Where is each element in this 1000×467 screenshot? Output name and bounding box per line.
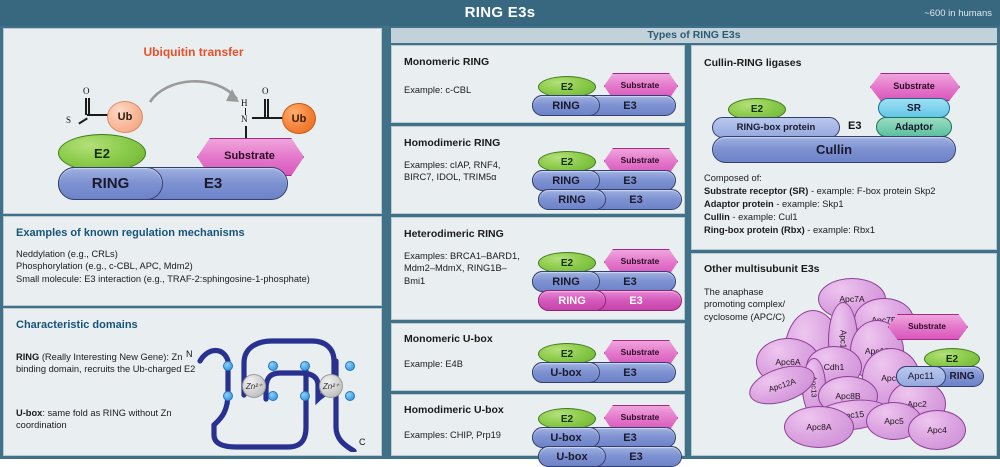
ubox-domain: U-box [538,446,606,467]
crl-component-desc: - example: F-box protein Skp2 [808,186,935,196]
hydrogen-atom-label: H [241,98,248,108]
apc-caption: The anaphase promoting complex/ cyclosom… [704,286,796,323]
bond-c-ub [87,114,109,116]
type-title: Heterodimeric RING [404,228,504,240]
ring-term: RING [16,352,39,362]
n-terminus-label: N [186,349,193,359]
type-title: Monomeric RING [404,56,489,68]
apc-panel: Other multisubunit E3s The anaphase prom… [691,253,997,456]
oxygen-atom-label-acceptor: O [262,86,269,96]
crl-component: Adaptor protein - example: Skp1 [704,198,844,210]
regulation-title: Examples of known regulation mechanisms [16,227,381,239]
right-column: Cullin-RING ligases Substrate E2 SR RING… [691,28,997,456]
type-panel-monomeric-ubox: Monomeric U-box Example: E4B E2 Substrat… [391,323,685,391]
apc-subunit: Apc8A [784,406,854,448]
ubox-definition: U-box: same fold as RING without Zn coor… [16,407,196,432]
domains-panel: Characteristic domains RING (Really Inte… [3,308,382,456]
cysteine-dot [300,361,310,371]
type-examples: Examples: cIAP, RNF4, BIRC7, IDOL, TRIM5… [404,159,530,184]
e3-label: E3 [848,120,861,132]
crl-component: Ring-box protein (Rbx) - example: Rbx1 [704,224,875,236]
regulation-item: Neddylation (e.g., CRLs) [16,248,381,260]
substrate-shape: Substrate [888,314,966,338]
poster-root: RING E3s ~600 in humans Types of RING E3… [0,0,1000,459]
regulation-panel: Examples of known regulation mechanisms … [3,216,382,306]
bond-c2-o-b [267,99,269,117]
substrate-shape: Substrate [604,148,676,172]
bond-c-o-a [85,98,87,115]
substrate-shape: Substrate [604,73,676,97]
regulation-item: Small molecule: E3 interaction (e.g., TR… [16,273,381,285]
crl-component-desc: - example: Cul1 [730,212,798,222]
cysteine-dot [345,361,355,371]
regulation-item: Phosphorylation (e.g., c-CBL, APC, Mdm2) [16,260,381,272]
human-count-label: ~600 in humans [924,0,992,27]
ring-fold-diagram-icon [184,327,384,452]
left-column: Ubiquitin transfer S O Ub H N O [3,28,382,456]
bond-n-c [252,117,266,119]
type-examples: Examples: CHIP, Prp19 [404,429,534,441]
type-examples: Examples: BRCA1–BARD1, Mdm2–MdmX, RING1B… [404,250,524,287]
ubox-domain: U-box [532,362,600,383]
type-title: Homodimeric RING [404,137,500,149]
ub-donor: Ub [107,101,143,133]
type-panel-monomeric-ring: Monomeric RING Example: c-CBL E2 Substra… [391,45,685,123]
substrate-shape: Substrate [604,405,676,429]
ring-definition: RING (Really Interesting New Gene): Zn b… [16,351,196,376]
types-column: Monomeric RING Example: c-CBL E2 Substra… [391,28,685,456]
bond-c-o-b [88,98,90,115]
ring-description: (Really Interesting New Gene): Zn bindin… [16,352,195,374]
ring-domain: RING [58,167,163,200]
type-panel-heterodimeric-ring: Heterodimeric RING Examples: BRCA1–BARD1… [391,217,685,320]
substrate-label: Substrate [604,73,676,97]
cysteine-dot [345,391,355,401]
ring-domain-partner: RING [538,290,606,311]
ubiquitin-transfer-panel: Ubiquitin transfer S O Ub H N O [3,28,382,214]
cysteine-dot [268,361,278,371]
c-terminus-label: C [359,437,366,447]
substrate-label: Substrate [604,405,676,429]
ring-domain: RING [532,95,600,116]
zinc-ion-2: Zn²⁺ [319,374,343,398]
crl-composed-label: Composed of: [704,172,762,184]
crl-component: Cullin - example: Cul1 [704,211,798,223]
crl-component-name: Ring-box protein (Rbx) [704,225,805,235]
cysteine-dot [300,391,310,401]
cysteine-dot [223,361,233,371]
page-header: RING E3s ~600 in humans [0,0,1000,26]
crl-component: Substrate receptor (SR) - example: F-box… [704,185,935,197]
type-panel-homodimeric-ring: Homodimeric RING Examples: cIAP, RNF4, B… [391,126,685,214]
adaptor-subunit: Adaptor [876,117,952,137]
substrate-shape: Substrate [870,73,958,99]
substrate-shape: Substrate [604,340,676,364]
cullin-bar: Cullin [712,136,956,163]
ubox-term: U-box [16,408,42,418]
crl-component-name: Cullin [704,212,730,222]
substrate-label: Substrate [870,73,958,99]
substrate-label: Substrate [888,314,966,338]
crl-title: Cullin-RING ligases [704,57,801,69]
apc-title: Other multisubunit E3s [704,263,820,275]
regulation-list: Neddylation (e.g., CRLs) Phosphorylation… [16,248,381,285]
ring-domain: RING [538,189,606,210]
apc-subunit: Apc4 [908,410,966,450]
ub-acceptor: Ub [282,103,316,134]
type-title: Monomeric U-box [404,333,493,345]
ring-domain: RING [532,170,600,191]
sr-subunit: SR [878,98,950,118]
crl-component-name: Adaptor protein [704,199,774,209]
type-examples: Example: E4B [404,358,534,370]
bond-n-h [245,108,246,115]
crl-component-desc: - example: Rbx1 [805,225,875,235]
ring-domain: RING [532,271,600,292]
crl-component-desc: - example: Skp1 [774,199,844,209]
type-panel-homodimeric-ubox: Homodimeric U-box Examples: CHIP, Prp19 … [391,394,685,456]
bond-c2-o-a [264,99,266,117]
substrate-label: Substrate [604,340,676,364]
type-examples: Example: c-CBL [404,84,534,96]
substrate-shape: Substrate [604,249,676,273]
substrate-label: Substrate [604,249,676,273]
zinc-ion-1: Zn²⁺ [242,374,266,398]
cysteine-dot [223,391,233,401]
apc11-subunit: Apc11 [896,366,946,387]
cysteine-dot [268,391,278,401]
type-title: Homodimeric U-box [404,404,504,416]
page-title: RING E3s [0,0,1000,26]
ubox-domain: U-box [532,427,600,448]
substrate-label: Substrate [604,148,676,172]
ring-box-protein: RING-box protein [712,117,840,138]
oxygen-atom-label-donor: O [83,86,90,96]
crl-component-name: Substrate receptor (SR) [704,186,808,196]
nitrogen-atom-label: N [241,114,248,124]
crl-panel: Cullin-RING ligases Substrate E2 SR RING… [691,45,997,250]
sulfur-atom-label: S [66,115,71,125]
